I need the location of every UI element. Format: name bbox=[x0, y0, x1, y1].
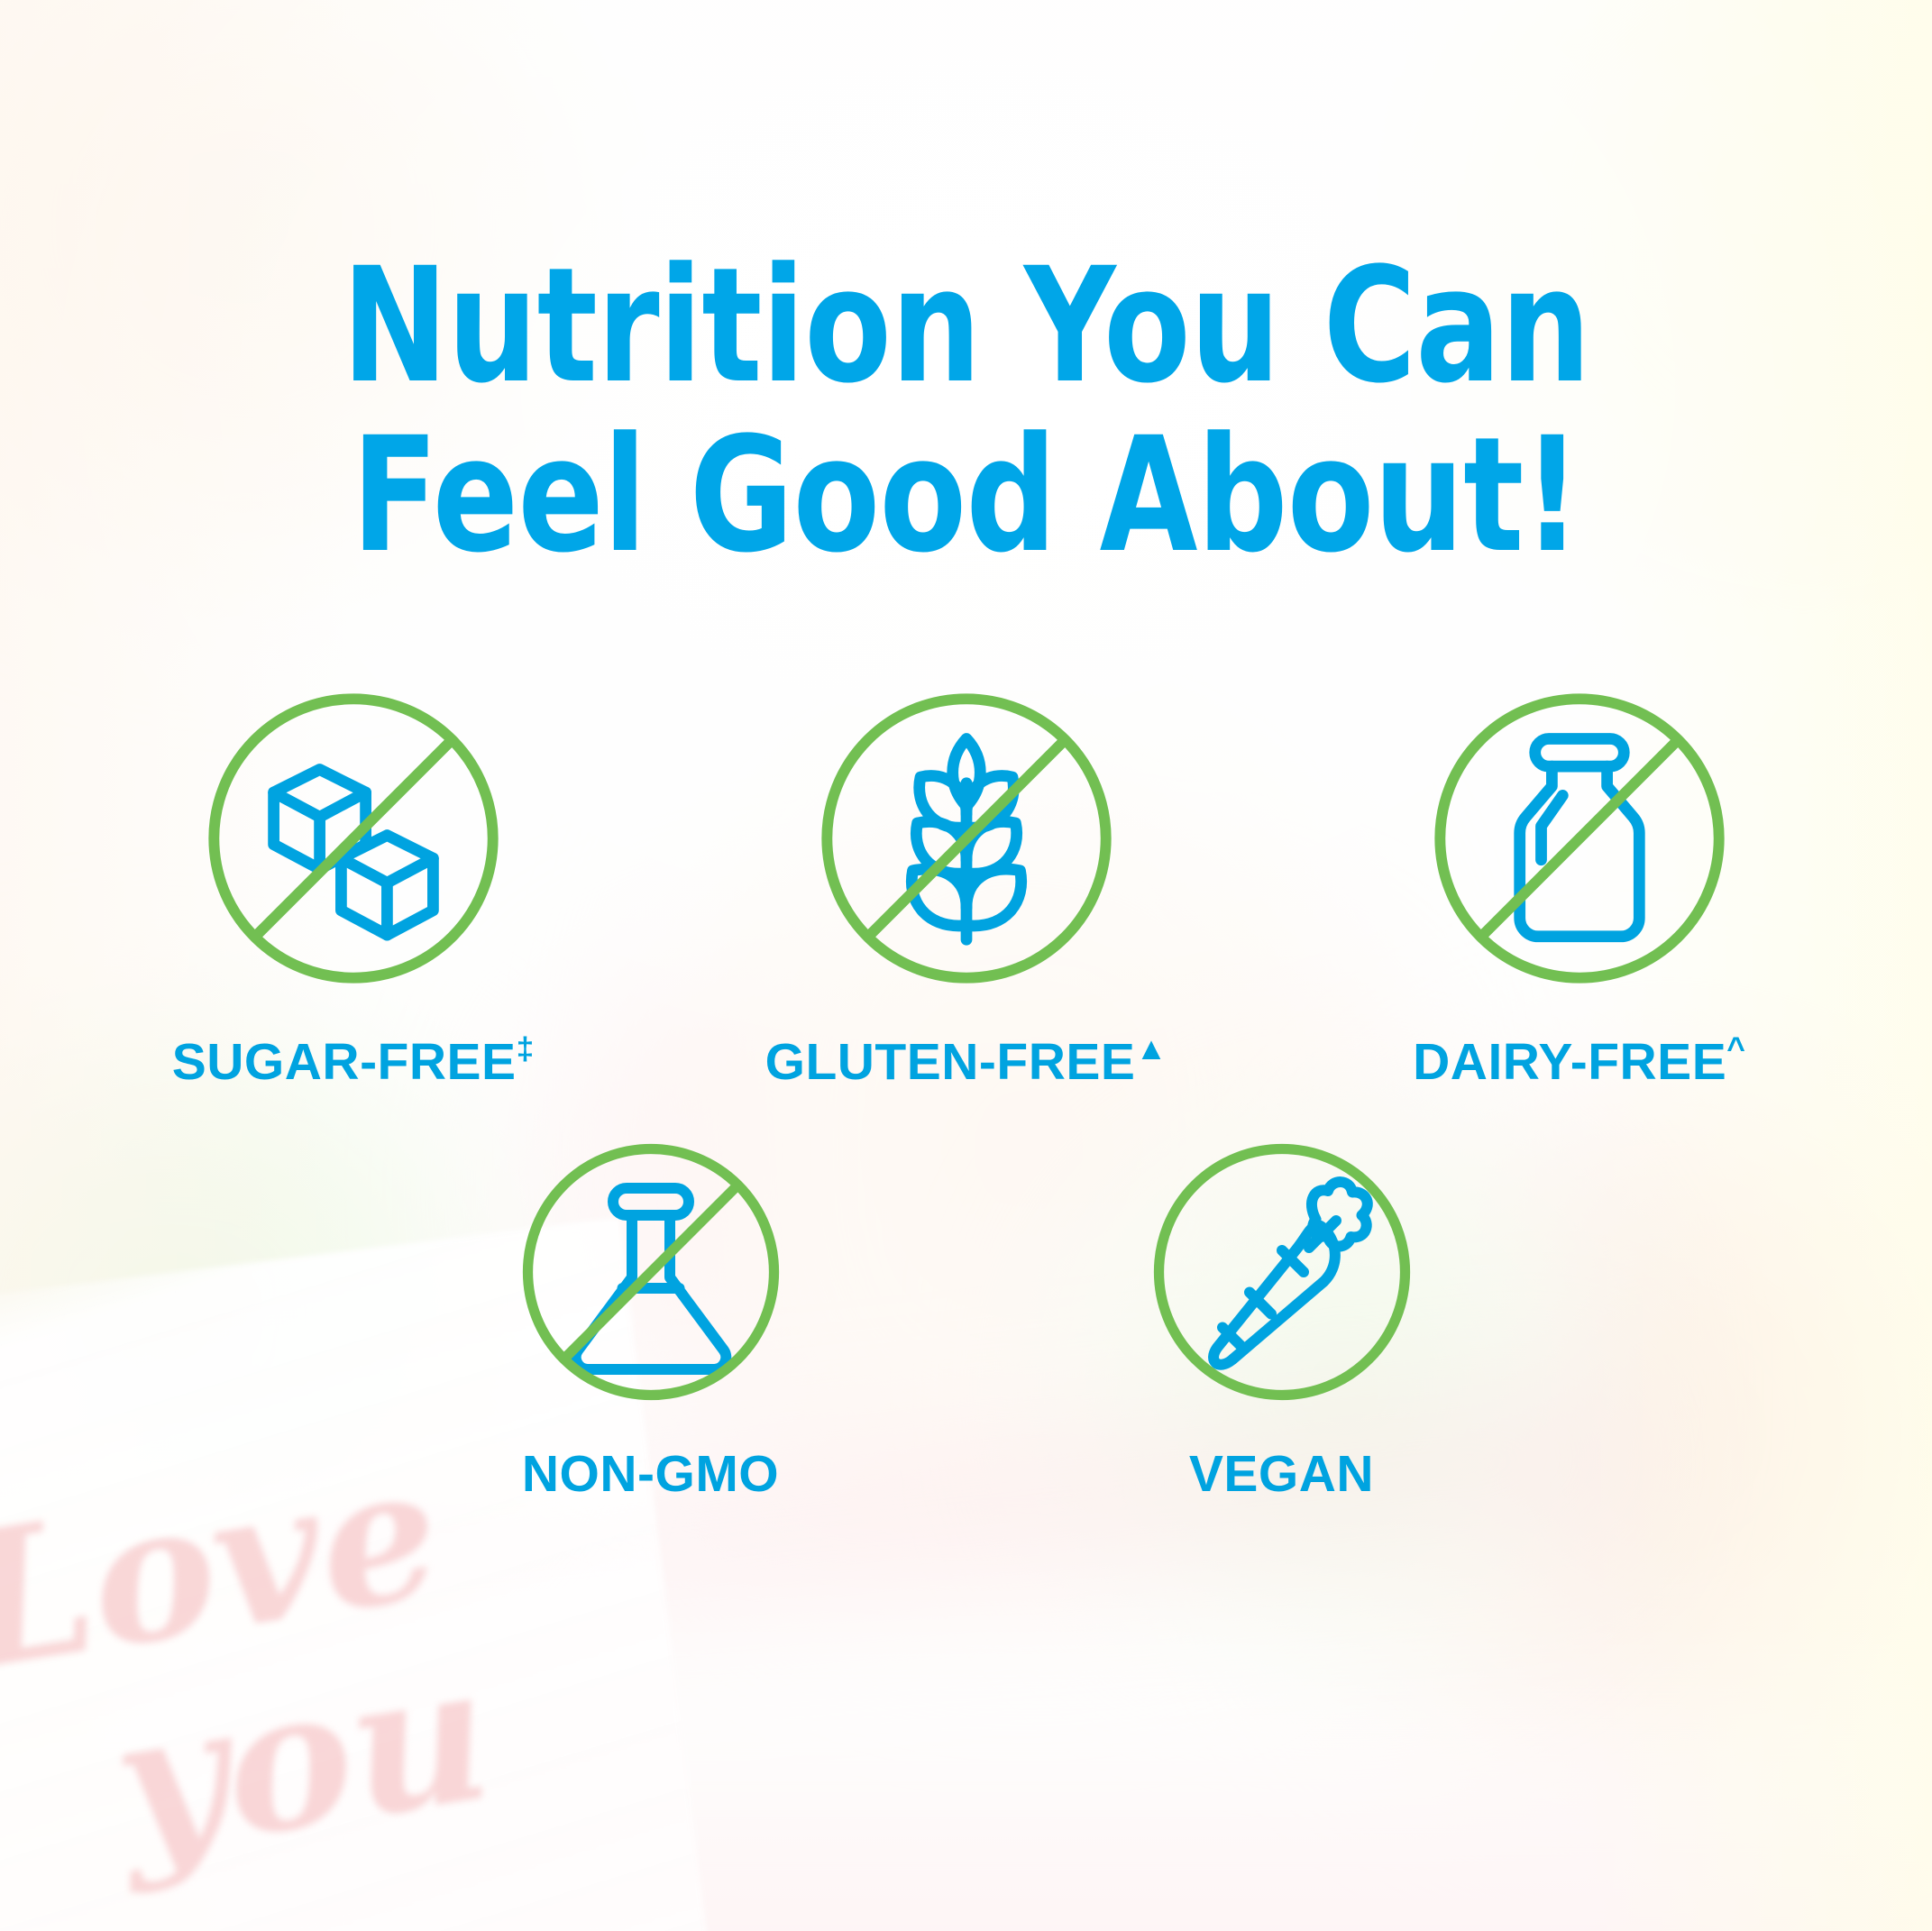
dairy-free-superscript: ^ bbox=[1726, 1031, 1745, 1066]
vegan-label: VEGAN bbox=[1189, 1443, 1374, 1504]
wheat-stalk-icon bbox=[813, 685, 1120, 992]
claims-row-top: SUGAR-FREE‡ bbox=[0, 685, 1932, 1092]
headline-line-1: Nutrition You Can bbox=[193, 242, 1738, 411]
vegan-mark bbox=[1147, 1137, 1417, 1407]
non-gmo-mark bbox=[516, 1137, 786, 1407]
page-title: Nutrition You Can Feel Good About! bbox=[193, 242, 1738, 581]
claims-grid: SUGAR-FREE‡ bbox=[0, 685, 1932, 1504]
gluten-free-label-text: GLUTEN-FREE bbox=[765, 1033, 1136, 1091]
gluten-free-mark bbox=[813, 685, 1120, 992]
gluten-free-superscript: ▲ bbox=[1135, 1031, 1167, 1066]
sugar-free-label-text: SUGAR-FREE bbox=[172, 1033, 517, 1091]
vegan-label-text: VEGAN bbox=[1189, 1445, 1374, 1503]
lab-flask-icon bbox=[516, 1137, 786, 1407]
badge-vegan: VEGAN bbox=[1084, 1137, 1480, 1504]
sugar-cubes-icon bbox=[200, 685, 507, 992]
prohibition-slash bbox=[255, 740, 452, 937]
dairy-free-label-text: DAIRY-FREE bbox=[1413, 1033, 1726, 1091]
badge-dairy-free: DAIRY-FREE^ bbox=[1381, 685, 1778, 1092]
non-gmo-label: NON-GMO bbox=[522, 1443, 779, 1504]
badge-sugar-free: SUGAR-FREE‡ bbox=[155, 685, 552, 1092]
gluten-free-label: GLUTEN-FREE▲ bbox=[765, 1031, 1167, 1092]
sugar-free-superscript: ‡ bbox=[517, 1031, 535, 1066]
headline-line-2: Feel Good About! bbox=[193, 411, 1738, 581]
claims-row-bottom: NON-GMO bbox=[0, 1137, 1932, 1504]
dairy-free-mark bbox=[1426, 685, 1733, 992]
carrot-icon bbox=[1147, 1137, 1417, 1407]
dairy-free-label: DAIRY-FREE^ bbox=[1413, 1031, 1745, 1092]
badge-gluten-free: GLUTEN-FREE▲ bbox=[768, 685, 1165, 1092]
non-gmo-label-text: NON-GMO bbox=[522, 1445, 779, 1503]
sugar-free-mark bbox=[200, 685, 507, 992]
promo-graphic: Love you Nutrition You Can Feel Good Abo… bbox=[0, 0, 1932, 1931]
badge-non-gmo: NON-GMO bbox=[453, 1137, 849, 1504]
milk-bottle-icon bbox=[1426, 685, 1733, 992]
sugar-free-label: SUGAR-FREE‡ bbox=[172, 1031, 535, 1092]
